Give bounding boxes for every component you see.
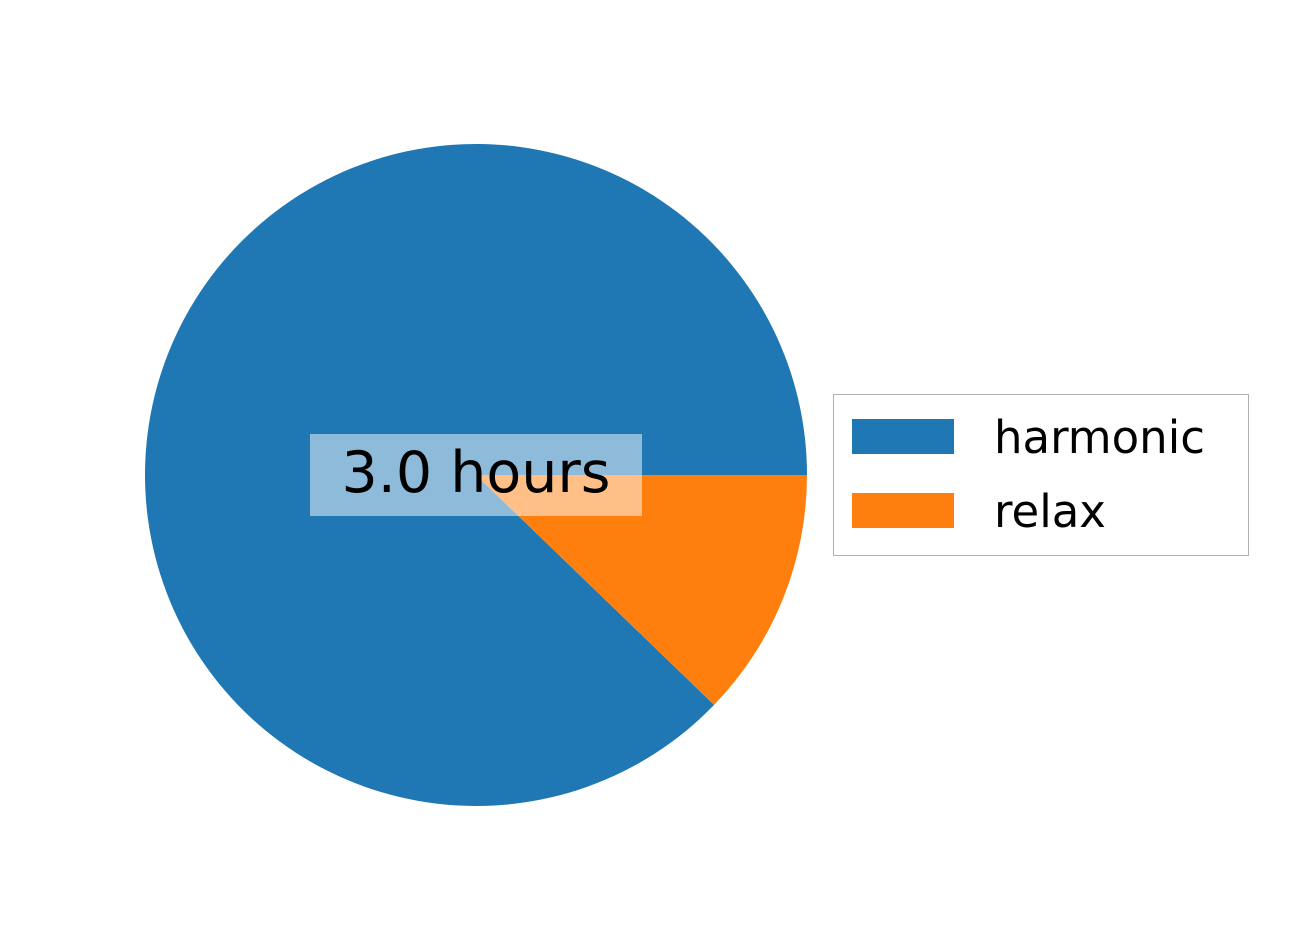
pie-chart-figure: 3.0 hours harmonic relax — [0, 0, 1307, 951]
legend-swatch-relax — [852, 493, 954, 528]
legend-entry-relax[interactable]: relax — [834, 491, 1248, 529]
center-value-text: 3.0 hours — [341, 445, 610, 502]
legend-label-relax: relax — [994, 489, 1106, 534]
legend-label-harmonic: harmonic — [994, 415, 1205, 460]
legend-swatch-harmonic — [852, 419, 954, 454]
legend-box: harmonic relax — [833, 394, 1249, 556]
legend-entry-harmonic[interactable]: harmonic — [834, 417, 1248, 455]
center-value-label: 3.0 hours — [310, 434, 642, 516]
